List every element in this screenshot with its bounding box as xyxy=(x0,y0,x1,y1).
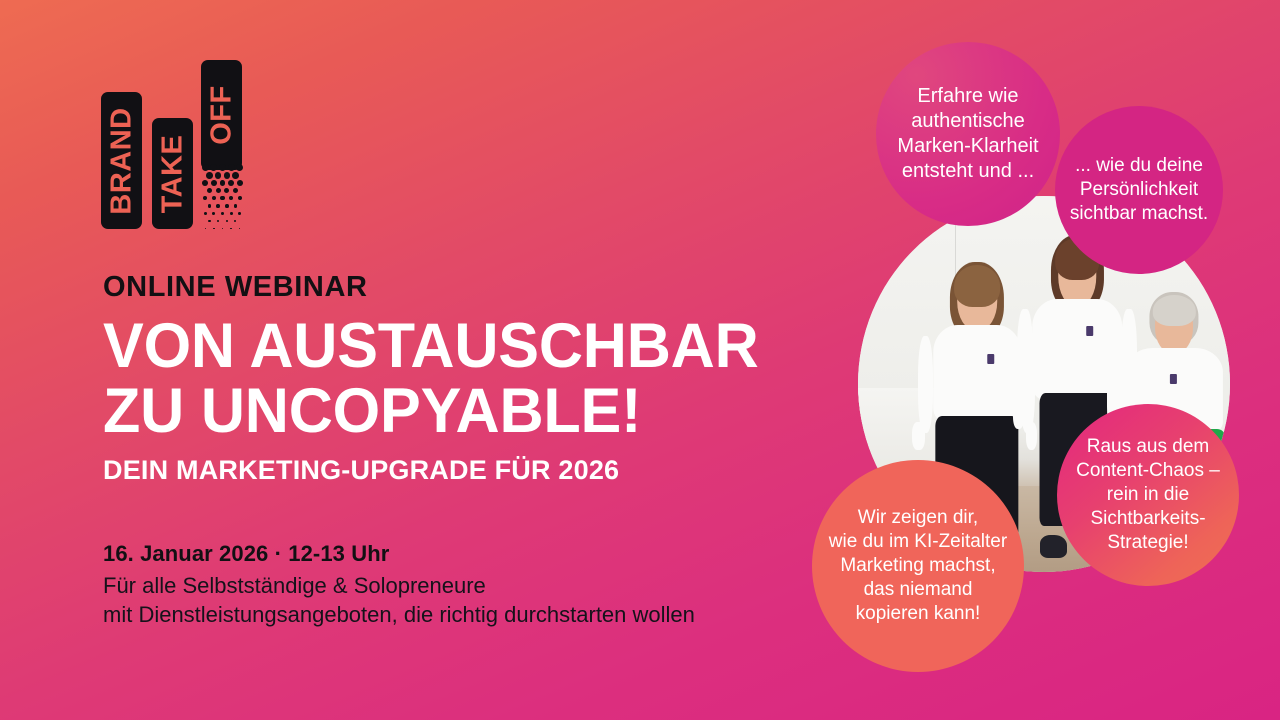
logo-bar-take: TAKE xyxy=(152,118,193,229)
person-left-arm-left xyxy=(918,336,934,433)
headline-line-2: ZU UNCOPYABLE! xyxy=(103,379,801,443)
person-right-shirt-logo-icon xyxy=(1170,374,1177,384)
benefit-bubble-4-text: Wir zeigen dir, wie du im KI-Zeitalter M… xyxy=(829,506,1007,626)
halftone-dots-icon xyxy=(201,164,246,236)
logo-bar-off: OFF xyxy=(201,60,242,170)
logo-bar-brand-label: BRAND xyxy=(105,107,138,214)
logo-bar-brand: BRAND xyxy=(101,92,142,229)
subheadline: DEIN MARKETING-UPGRADE FÜR 2026 xyxy=(103,455,823,486)
person-middle-shoe-left xyxy=(1040,535,1067,558)
person-middle-shirt-logo-icon xyxy=(1086,326,1093,336)
eyebrow-label: ONLINE WEBINAR xyxy=(103,272,823,302)
brand-logo: BRAND TAKE OFF xyxy=(101,60,246,235)
headline-line-1: VON AUSTAUSCHBAR xyxy=(103,314,801,378)
logo-bar-take-label: TAKE xyxy=(156,134,189,213)
webinar-banner: BRAND TAKE OFF ONLINE WEBINAR VON AUSTAU… xyxy=(0,0,1280,720)
person-middle-arm-left xyxy=(1017,309,1033,412)
page-title: VON AUSTAUSCHBAR ZU UNCOPYABLE! xyxy=(103,314,801,443)
benefit-bubble-4: Wir zeigen dir, wie du im KI-Zeitalter M… xyxy=(812,460,1024,672)
audience-line-2: mit Dienstleistungsangeboten, die richti… xyxy=(103,600,843,629)
benefit-bubble-2-text: ... wie du deine Persönlichkeit sichtbar… xyxy=(1070,154,1208,226)
person-left-shirt xyxy=(933,325,1020,422)
person-left-hair xyxy=(954,265,1000,308)
person-left-hand-left xyxy=(912,422,924,451)
person-left-shirt-logo-icon xyxy=(988,354,995,364)
benefit-bubble-1-text: Erfahre wie authentische Marken-Klarheit… xyxy=(897,84,1038,185)
logo-bar-off-label: OFF xyxy=(205,85,238,145)
headline-block: ONLINE WEBINAR VON AUSTAUSCHBAR ZU UNCOP… xyxy=(103,272,823,486)
benefit-bubble-1: Erfahre wie authentische Marken-Klarheit… xyxy=(876,42,1060,226)
person-middle-hand-left xyxy=(1013,400,1024,429)
person-right-hair xyxy=(1153,295,1195,327)
benefit-bubble-3-text: Raus aus dem Content-Chaos – rein in die… xyxy=(1076,435,1220,555)
event-details: 16. Januar 2026 · 12-13 Uhr Für alle Sel… xyxy=(103,541,843,630)
audience-line-1: Für alle Selbstständige & Solopreneure xyxy=(103,571,843,600)
benefit-bubble-3: Raus aus dem Content-Chaos – rein in die… xyxy=(1057,404,1239,586)
event-date-time: 16. Januar 2026 · 12-13 Uhr xyxy=(103,541,843,567)
benefit-bubble-2: ... wie du deine Persönlichkeit sichtbar… xyxy=(1055,106,1223,274)
